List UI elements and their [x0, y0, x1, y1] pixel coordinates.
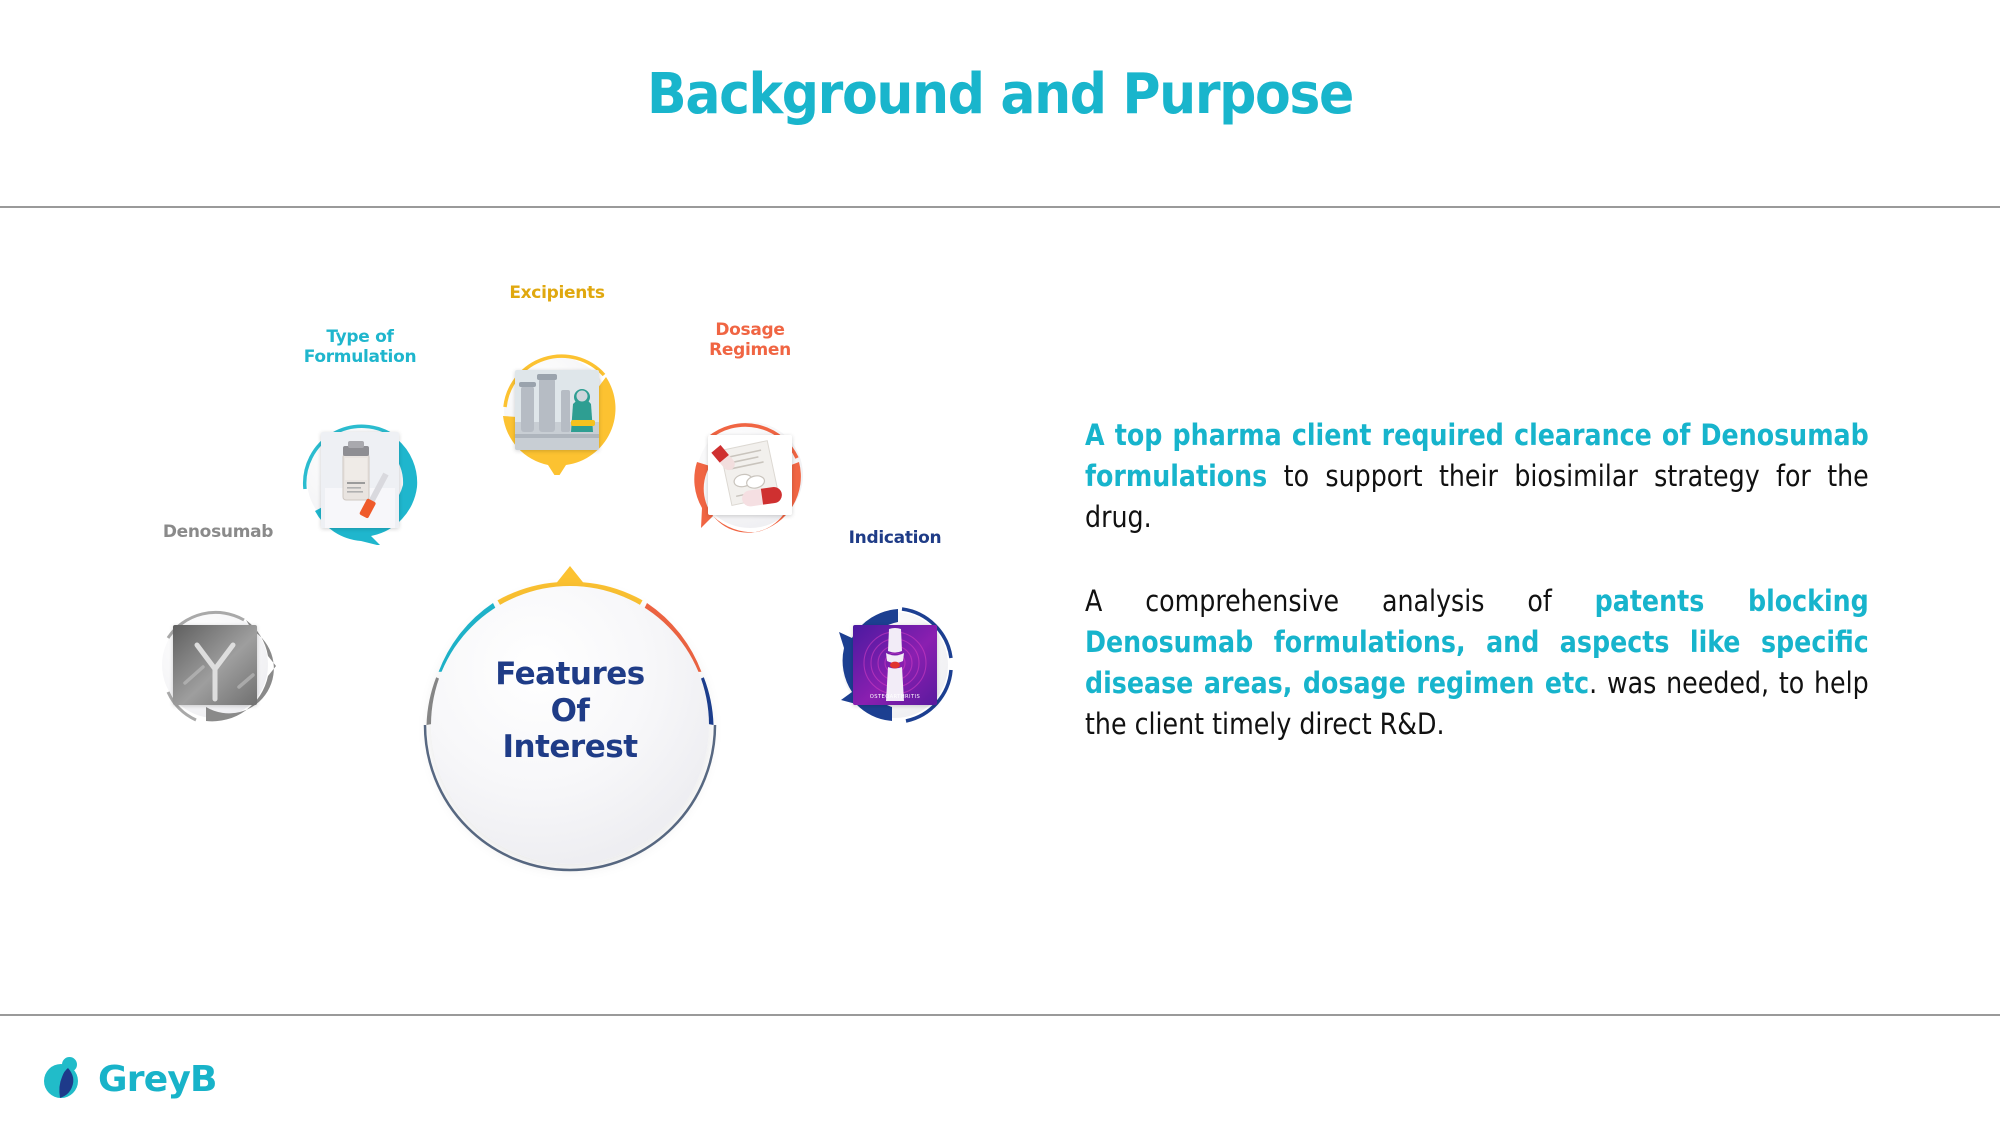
node-denosumab[interactable]: Denosumab — [150, 600, 280, 730]
svg-text:OSTEOARTHRITIS: OSTEOARTHRITIS — [870, 694, 920, 700]
node-label-excipients: Excipients — [477, 283, 637, 303]
greyb-logo[interactable]: GreyB — [42, 1056, 217, 1102]
paragraph-2-plain-lead: A comprehensive analysis of — [1085, 584, 1595, 618]
features-of-interest-diagram: Features Of Interest — [120, 240, 1120, 1000]
node-image-dosage-regimen — [708, 435, 792, 515]
page-title: Background and Purpose — [70, 62, 1930, 127]
slide-header: Background and Purpose — [0, 0, 2000, 207]
node-type-of-formulation[interactable]: Type of Formulation — [295, 415, 425, 545]
node-indication[interactable]: OSTEOARTHRITIS Indication — [830, 600, 960, 730]
node-label-dosage-regimen: Dosage Regimen — [663, 320, 837, 360]
node-image-indication: OSTEOARTHRITIS — [853, 625, 937, 705]
greyb-logo-icon — [42, 1056, 86, 1102]
node-dosage-regimen[interactable]: Dosage Regimen — [685, 410, 815, 540]
node-image-denosumab — [173, 625, 257, 705]
hub-label: Features Of Interest — [405, 656, 735, 766]
paragraph-1: A top pharma client required clearance o… — [1085, 415, 1869, 539]
node-label-denosumab: Denosumab — [138, 522, 298, 542]
node-label-indication: Indication — [812, 528, 978, 548]
paragraph-2: A comprehensive analysis of patents bloc… — [1085, 581, 1869, 746]
hub-features-of-interest[interactable]: Features Of Interest — [405, 560, 735, 890]
slide: Background and Purpose — [0, 0, 2000, 1125]
slide-footer: GreyB — [0, 1014, 2000, 1125]
node-label-type-of-formulation: Type of Formulation — [277, 327, 443, 367]
body-copy: A top pharma client required clearance o… — [1085, 415, 1893, 745]
node-image-excipients — [515, 370, 599, 450]
node-excipients[interactable]: Excipients — [492, 345, 622, 475]
header-divider — [0, 206, 2000, 208]
node-image-type-of-formulation — [321, 432, 399, 528]
greyb-logo-text: GreyB — [98, 1059, 217, 1100]
